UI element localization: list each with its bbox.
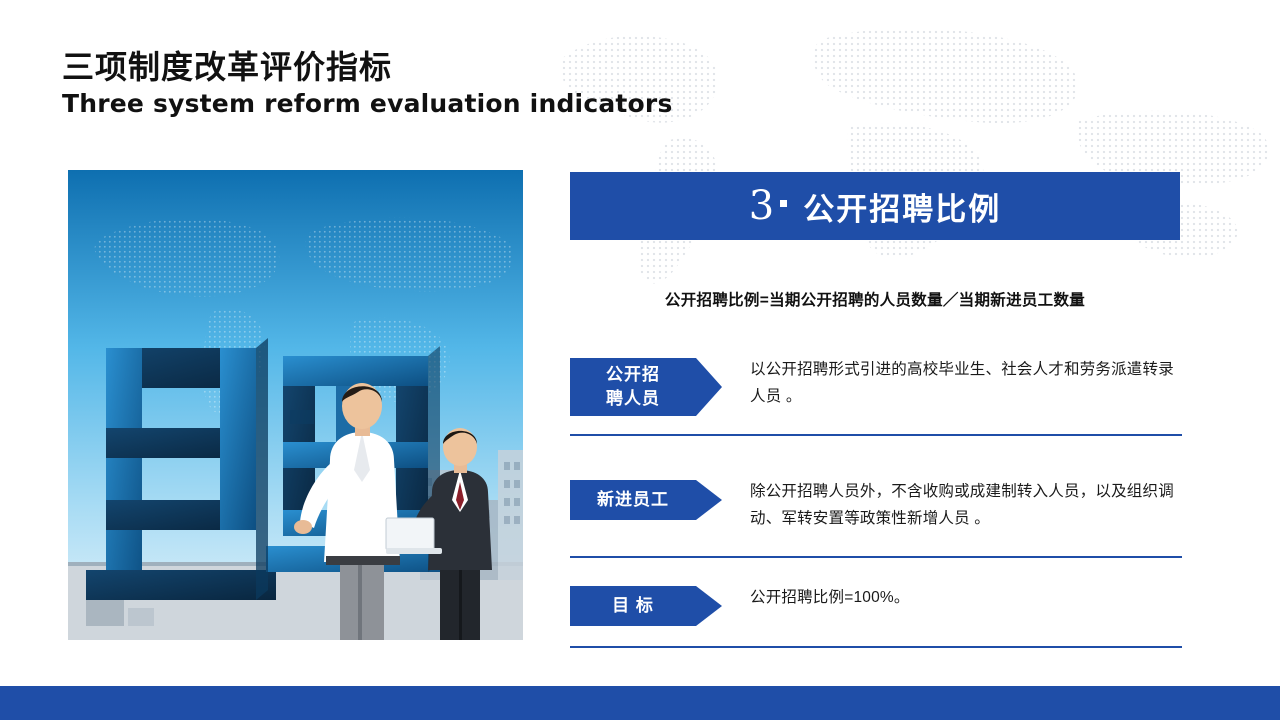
- section-title: 公开招聘比例: [803, 184, 1001, 229]
- row-3-tag-arrow-icon: [696, 586, 722, 626]
- row-1-tag-line2: 聘人员: [606, 387, 660, 411]
- row-1-divider: [570, 434, 1182, 436]
- section-number: 3: [749, 186, 774, 226]
- footer-bar: [0, 686, 1280, 720]
- row-3-tag-line1: 目 标: [612, 594, 654, 618]
- row-1-tag-line1: 公开招: [606, 363, 660, 387]
- page-header: 三项制度改革评价指标 Three system reform evaluatio…: [62, 48, 673, 120]
- section-number-dot: [780, 200, 787, 207]
- formula-text: 公开招聘比例=当期公开招聘的人员数量／当期新进员工数量: [570, 288, 1180, 310]
- row-2-divider: [570, 556, 1182, 558]
- row-1-tag: 公开招 聘人员: [570, 358, 696, 416]
- row-2-tag-arrow-icon: [696, 480, 722, 520]
- page-title-cn: 三项制度改革评价指标: [62, 48, 673, 86]
- row-3-tag: 目 标: [570, 586, 696, 626]
- row-3-description: 公开招聘比例=100%。: [750, 584, 1182, 611]
- row-2-description: 除公开招聘人员外，不含收购或成建制转入人员，以及组织调动、军转安置等政策性新增人…: [750, 478, 1182, 532]
- row-1-description: 以公开招聘形式引进的高校毕业生、社会人才和劳务派遣转录人员 。: [750, 356, 1182, 410]
- recruitment-photo: [68, 170, 523, 640]
- row-3-divider: [570, 646, 1182, 648]
- row-2-tag-line1: 新进员工: [597, 488, 669, 512]
- row-1-tag-arrow-icon: [696, 358, 722, 416]
- page-title-en: Three system reform evaluation indicator…: [62, 88, 673, 120]
- row-2-tag: 新进员工: [570, 480, 696, 520]
- section-title-bar: 3 公开招聘比例: [570, 172, 1180, 240]
